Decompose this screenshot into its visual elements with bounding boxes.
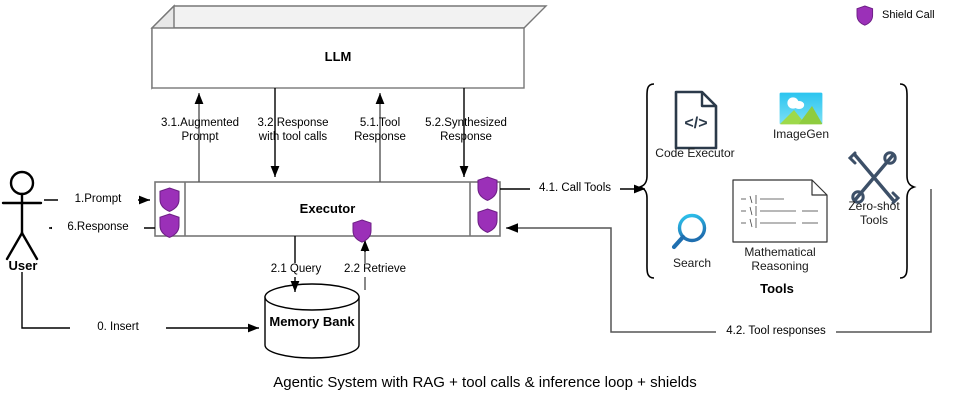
- tool-label-zero-shot-line1: Zero-shot: [838, 199, 910, 213]
- memory-bank-label: Memory Bank: [265, 314, 359, 329]
- flow-insert: [22, 272, 259, 328]
- tool-label-code-executor: Code Executor: [645, 146, 745, 160]
- diagram-canvas: </>: [0, 0, 970, 411]
- tool-label-math-reasoning-line1: Mathematical: [730, 245, 830, 259]
- diagram-caption: Agentic System with RAG + tool calls & i…: [0, 374, 970, 391]
- image-gen-icon: [779, 92, 823, 125]
- llm-node: [152, 6, 546, 88]
- flow-label-retrieve: 2.2 Retrieve: [333, 263, 417, 277]
- flow-label-prompt: 1.Prompt: [58, 193, 138, 207]
- flow-label-synthesized-line2: Response: [411, 131, 521, 145]
- tools-group-label: Tools: [717, 281, 837, 296]
- tool-label-search: Search: [662, 256, 722, 270]
- tools-brace-left: [640, 84, 654, 278]
- llm-label: LLM: [152, 49, 524, 64]
- user-actor: [3, 172, 41, 259]
- code-document-icon: </>: [676, 92, 716, 148]
- flow-label-tool-responses: 4.2. Tool responses: [716, 325, 836, 339]
- magnifier-icon: [674, 216, 705, 248]
- flow-label-query: 2.1 Query: [258, 263, 334, 277]
- flow-label-call-tools: 4.1. Call Tools: [530, 182, 620, 196]
- crossed-wrenches-icon: [850, 153, 898, 203]
- tool-label-zero-shot-line2: Tools: [838, 213, 910, 227]
- shield-icon-memory-retrieve: [353, 220, 371, 242]
- executor-label: Executor: [185, 201, 470, 216]
- legend-label-shield-call: Shield Call: [882, 9, 935, 21]
- flow-label-response: 6.Response: [52, 221, 144, 235]
- tool-label-imagegen: ImageGen: [761, 127, 841, 141]
- svg-text:</>: </>: [684, 115, 707, 132]
- flow-label-synthesized-line1: 5.2.Synthesized: [411, 117, 521, 131]
- tools-brace-right: [900, 84, 914, 278]
- shield-icon-legend: [857, 6, 873, 25]
- tool-label-math-reasoning-line2: Reasoning: [730, 259, 830, 273]
- user-label: User: [0, 258, 46, 273]
- flow-label-insert: 0. Insert: [70, 321, 166, 335]
- math-document-icon: [733, 180, 827, 242]
